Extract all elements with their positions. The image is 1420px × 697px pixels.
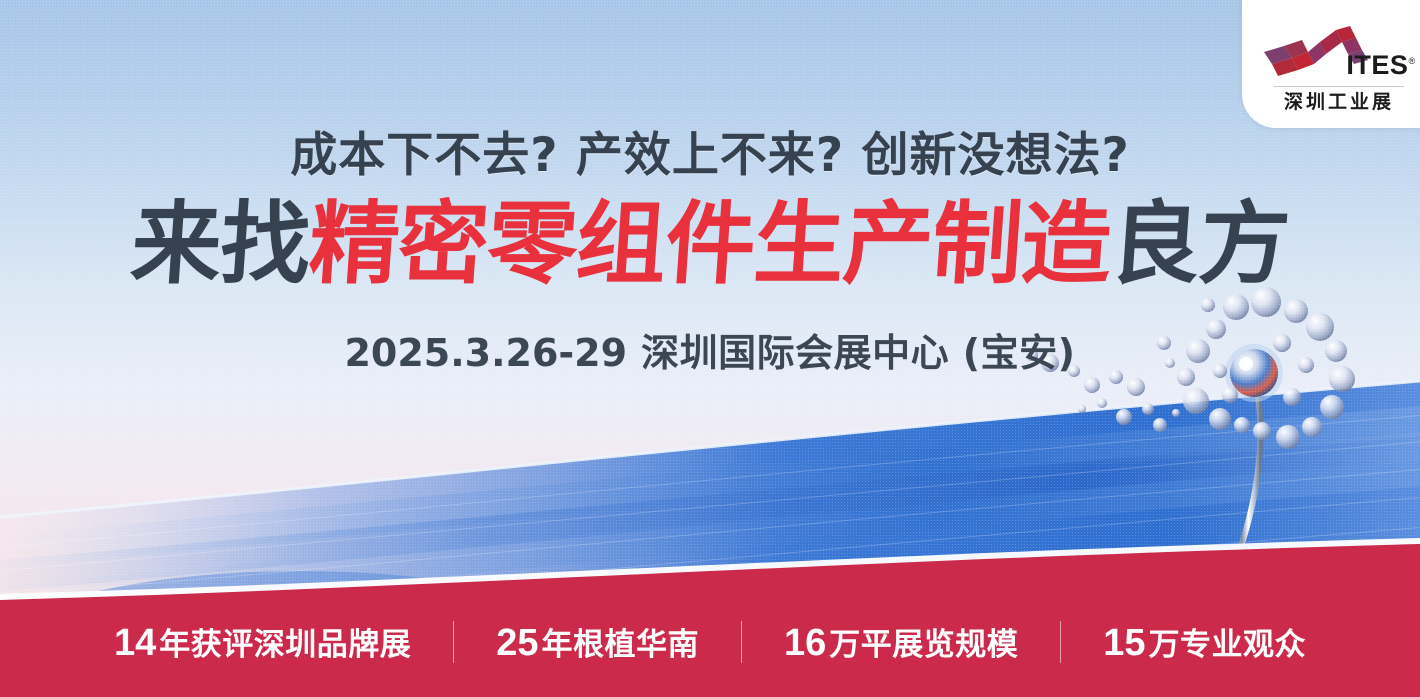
stat-item: 14 年获评深圳品牌展 xyxy=(72,619,453,665)
stats-bar: 14 年获评深圳品牌展 25 年根植华南 16 万平展览规模 15 万专业观众 xyxy=(0,532,1420,697)
headline-question: 成本下不去? 产效上不来? 创新没想法? xyxy=(0,116,1420,185)
promo-banner: ITES® 深圳工业展 成本下不去? 产效上不来? 创新没想法? 来找精密零组件… xyxy=(0,0,1420,697)
logo-subtitle: 深圳工业展 xyxy=(1284,93,1394,112)
stat-number: 16 xyxy=(784,622,826,665)
headline-main-highlight: 精密零组件生产制造 xyxy=(306,192,1114,297)
stats-row: 14 年获评深圳品牌展 25 年根植华南 16 万平展览规模 15 万专业观众 xyxy=(0,587,1420,697)
stat-item: 16 万平展览规模 xyxy=(742,619,1060,665)
stat-item: 15 万专业观众 xyxy=(1061,619,1348,665)
stat-number: 25 xyxy=(496,622,538,665)
headline-main-tail: 良方 xyxy=(1107,192,1292,297)
stat-number: 15 xyxy=(1103,622,1145,665)
stat-label: 年获评深圳品牌展 xyxy=(159,619,411,664)
logo-wordmark-text: ITES xyxy=(1346,50,1408,80)
event-date: 2025.3.26-29 xyxy=(344,331,627,375)
stat-label: 万平展览规模 xyxy=(829,619,1018,664)
stat-label: 年根植华南 xyxy=(542,619,700,664)
stat-item: 25 年根植华南 xyxy=(454,619,741,665)
event-venue: 深圳国际会展中心 (宝安) xyxy=(641,331,1075,375)
logo-wordmark: ITES® xyxy=(1346,52,1415,79)
stat-label: 万专业观众 xyxy=(1149,619,1307,664)
headline-main: 来找精密零组件生产制造良方 xyxy=(0,196,1420,293)
registered-mark: ® xyxy=(1408,56,1415,66)
ites-logo-card: ITES® 深圳工业展 xyxy=(1242,0,1420,128)
headline-main-lead: 来找 xyxy=(128,192,313,297)
logo-mark-row: ITES® xyxy=(1262,24,1415,80)
logo-divider xyxy=(1274,86,1404,87)
event-date-venue: 2025.3.26-29深圳国际会展中心 (宝安) xyxy=(0,322,1420,377)
stat-number: 14 xyxy=(114,622,156,665)
